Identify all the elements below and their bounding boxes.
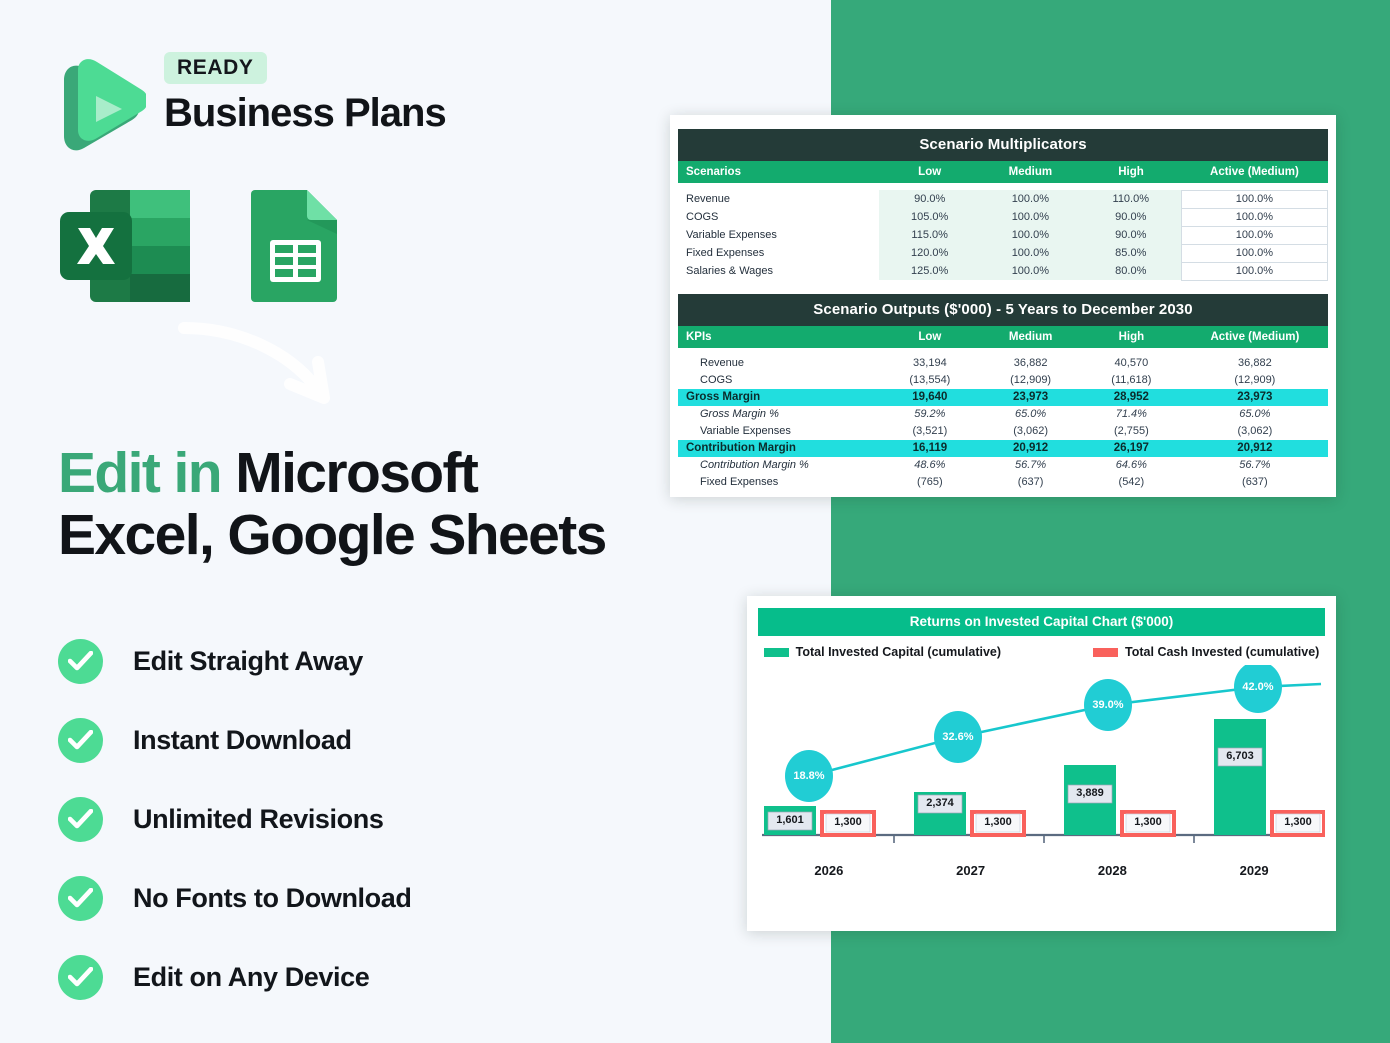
feature-list: Edit Straight Away Instant Download Unli… [58, 622, 678, 1017]
legend-label: Total Cash Invested (cumulative) [1125, 645, 1319, 659]
cell-active: 36,882 [1182, 355, 1328, 372]
table-row: Variable Expenses (3,521) (3,062) (2,755… [678, 423, 1328, 440]
row-label: Variable Expenses [678, 226, 879, 244]
row-label: COGS [678, 372, 880, 389]
table-header-row: Scenarios Low Medium High Active (Medium… [678, 161, 1328, 183]
feature-label: Edit Straight Away [133, 646, 363, 677]
cell-high: 85.0% [1081, 244, 1182, 262]
bar-value-label: 1,300 [1126, 816, 1170, 828]
chart-title: Returns on Invested Capital Chart ($'000… [758, 608, 1325, 636]
row-label: Revenue [678, 355, 880, 372]
cell-high: 40,570 [1081, 355, 1182, 372]
cell-low: 19,640 [880, 389, 981, 406]
cell-high: 28,952 [1081, 389, 1182, 406]
col-header-low: Low [879, 161, 980, 183]
feature-label: Unlimited Revisions [133, 804, 383, 835]
table-row: Fixed Expenses (765) (637) (542) (637) [678, 474, 1328, 491]
cell-active: 65.0% [1182, 406, 1328, 423]
headline-accent: Edit in [58, 441, 221, 505]
list-item: Unlimited Revisions [58, 780, 678, 859]
cell-high: (542) [1081, 474, 1182, 491]
check-circle-icon [58, 955, 103, 1000]
list-item: Edit Straight Away [58, 622, 678, 701]
bar-value-label: 6,703 [1218, 750, 1262, 762]
chart-x-axis-labels: 2026 2027 2028 2029 [758, 863, 1325, 878]
curved-arrow-icon [178, 318, 368, 414]
cell-medium: (3,062) [980, 423, 1081, 440]
cell-active[interactable]: 100.0% [1181, 190, 1327, 208]
col-header-high: High [1081, 161, 1182, 183]
cell-active[interactable]: 100.0% [1181, 226, 1327, 244]
line-point-label: 39.0% [1084, 699, 1132, 711]
x-tick-label: 2027 [900, 863, 1042, 878]
cell-low: (3,521) [880, 423, 981, 440]
chart-legend: Total Invested Capital (cumulative) Tota… [758, 645, 1325, 659]
play-triangle-logo-icon [60, 56, 146, 156]
row-label: Contribution Margin % [678, 457, 880, 474]
col-header-low: Low [880, 326, 981, 348]
col-header-high: High [1081, 326, 1182, 348]
scenario-outputs-table: KPIs Low Medium High Active (Medium) Rev… [678, 326, 1328, 491]
row-label: Contribution Margin [678, 440, 880, 457]
chart-plot-area: 1,601 2,374 3,889 6,703 1,300 1,300 1,30… [758, 665, 1325, 880]
feature-label: Instant Download [133, 725, 352, 756]
bar-value-label: 3,889 [1068, 787, 1112, 799]
table-row: Revenue 90.0% 100.0% 110.0% 100.0% [678, 190, 1328, 208]
col-header-active: Active (Medium) [1182, 326, 1328, 348]
row-label: Fixed Expenses [678, 474, 880, 491]
bar-value-label: 1,300 [1276, 816, 1320, 828]
cell-low: 48.6% [880, 457, 981, 474]
row-label: Variable Expenses [678, 423, 880, 440]
bar-value-label: 1,601 [768, 814, 812, 826]
page-title: Edit in Microsoft Excel, Google Sheets [58, 443, 758, 566]
table-row: Salaries & Wages 125.0% 100.0% 80.0% 100… [678, 262, 1328, 280]
legend-swatch-icon [1093, 648, 1118, 657]
row-label: COGS [678, 208, 879, 226]
legend-item-cash-invested: Total Cash Invested (cumulative) [1093, 645, 1319, 659]
cell-medium: (637) [980, 474, 1081, 491]
feature-label: Edit on Any Device [133, 962, 369, 993]
brand-text-block: READY Business Plans [164, 52, 446, 133]
app-icon-group [58, 186, 342, 306]
row-label: Salaries & Wages [678, 262, 879, 280]
cell-active[interactable]: 100.0% [1181, 244, 1327, 262]
roic-chart-card: Returns on Invested Capital Chart ($'000… [747, 596, 1336, 931]
col-header-kpis: KPIs [678, 326, 880, 348]
table-row: Gross Margin % 59.2% 65.0% 71.4% 65.0% [678, 406, 1328, 423]
col-header-scenarios: Scenarios [678, 161, 879, 183]
cell-high: 71.4% [1081, 406, 1182, 423]
cell-active: (637) [1182, 474, 1328, 491]
cell-low: 105.0% [879, 208, 980, 226]
cell-low: (13,554) [880, 372, 981, 389]
table-row: Revenue 33,194 36,882 40,570 36,882 [678, 355, 1328, 372]
cell-active[interactable]: 100.0% [1181, 208, 1327, 226]
scenario-spreadsheet-card: Scenario Multiplicators Scenarios Low Me… [670, 115, 1336, 497]
row-label: Gross Margin % [678, 406, 880, 423]
table-row: COGS 105.0% 100.0% 90.0% 100.0% [678, 208, 1328, 226]
cell-medium: 65.0% [980, 406, 1081, 423]
scenario-multipliers-table: Scenarios Low Medium High Active (Medium… [678, 161, 1328, 281]
check-circle-icon [58, 876, 103, 921]
ready-badge: READY [164, 52, 267, 84]
cell-medium: 20,912 [980, 440, 1081, 457]
poster-canvas: READY Business Plans [0, 0, 1390, 1043]
cell-high: (2,755) [1081, 423, 1182, 440]
cell-high: 26,197 [1081, 440, 1182, 457]
bar-value-label: 1,300 [976, 816, 1020, 828]
legend-item-invested-capital: Total Invested Capital (cumulative) [764, 645, 1001, 659]
cell-low: 90.0% [879, 190, 980, 208]
cell-active[interactable]: 100.0% [1181, 262, 1327, 280]
list-item: Edit on Any Device [58, 938, 678, 1017]
check-circle-icon [58, 639, 103, 684]
cell-high: 90.0% [1081, 208, 1182, 226]
cell-medium: 100.0% [980, 226, 1081, 244]
line-point-label: 32.6% [934, 731, 982, 743]
list-item: Instant Download [58, 701, 678, 780]
cell-high: 90.0% [1081, 226, 1182, 244]
table-row-highlight: Gross Margin 19,640 23,973 28,952 23,973 [678, 389, 1328, 406]
cell-medium: (12,909) [980, 372, 1081, 389]
cell-low: 115.0% [879, 226, 980, 244]
list-item: No Fonts to Download [58, 859, 678, 938]
table-row: Contribution Margin % 48.6% 56.7% 64.6% … [678, 457, 1328, 474]
x-tick-label: 2028 [1042, 863, 1184, 878]
col-header-medium: Medium [980, 161, 1081, 183]
cell-low: 16,119 [880, 440, 981, 457]
line-point-label: 42.0% [1234, 681, 1282, 693]
cell-low: 59.2% [880, 406, 981, 423]
row-label: Fixed Expenses [678, 244, 879, 262]
outputs-title: Scenario Outputs ($'000) - 5 Years to De… [678, 294, 1328, 326]
cell-medium: 100.0% [980, 244, 1081, 262]
line-point-label: 18.8% [785, 770, 833, 782]
cell-active: (3,062) [1182, 423, 1328, 440]
row-label: Revenue [678, 190, 879, 208]
table-header-row: KPIs Low Medium High Active (Medium) [678, 326, 1328, 348]
cell-high: (11,618) [1081, 372, 1182, 389]
brand-lockup: READY Business Plans [60, 52, 446, 156]
table-row: COGS (13,554) (12,909) (11,618) (12,909) [678, 372, 1328, 389]
cell-medium: 100.0% [980, 208, 1081, 226]
cell-medium: 36,882 [980, 355, 1081, 372]
headline-line2: Excel, Google Sheets [58, 503, 606, 567]
cell-high: 80.0% [1081, 262, 1182, 280]
feature-label: No Fonts to Download [133, 883, 411, 914]
cell-low: 33,194 [880, 355, 981, 372]
cell-medium: 100.0% [980, 190, 1081, 208]
cell-active: 23,973 [1182, 389, 1328, 406]
multipliers-title: Scenario Multiplicators [678, 129, 1328, 161]
cell-low: 125.0% [879, 262, 980, 280]
col-header-medium: Medium [980, 326, 1081, 348]
check-circle-icon [58, 797, 103, 842]
cell-medium: 100.0% [980, 262, 1081, 280]
table-row-highlight: Contribution Margin 16,119 20,912 26,197… [678, 440, 1328, 457]
bar-value-label: 2,374 [918, 797, 962, 809]
microsoft-excel-icon [58, 186, 192, 306]
legend-swatch-icon [764, 648, 789, 657]
col-header-active: Active (Medium) [1181, 161, 1327, 183]
cell-active: 56.7% [1182, 457, 1328, 474]
row-label: Gross Margin [678, 389, 880, 406]
x-tick-label: 2029 [1183, 863, 1325, 878]
table-row: Variable Expenses 115.0% 100.0% 90.0% 10… [678, 226, 1328, 244]
google-sheets-icon [249, 186, 342, 306]
x-tick-label: 2026 [758, 863, 900, 878]
cell-low: 120.0% [879, 244, 980, 262]
brand-name: Business Plans [164, 93, 446, 133]
cell-active: 20,912 [1182, 440, 1328, 457]
cell-high: 110.0% [1081, 190, 1182, 208]
table-row: Fixed Expenses 120.0% 100.0% 85.0% 100.0… [678, 244, 1328, 262]
cell-active: (12,909) [1182, 372, 1328, 389]
cell-high: 64.6% [1081, 457, 1182, 474]
bar-value-label: 1,300 [826, 816, 870, 828]
check-circle-icon [58, 718, 103, 763]
cell-medium: 56.7% [980, 457, 1081, 474]
legend-label: Total Invested Capital (cumulative) [796, 645, 1001, 659]
cell-low: (765) [880, 474, 981, 491]
cell-medium: 23,973 [980, 389, 1081, 406]
headline-rest: Microsoft [221, 441, 477, 505]
